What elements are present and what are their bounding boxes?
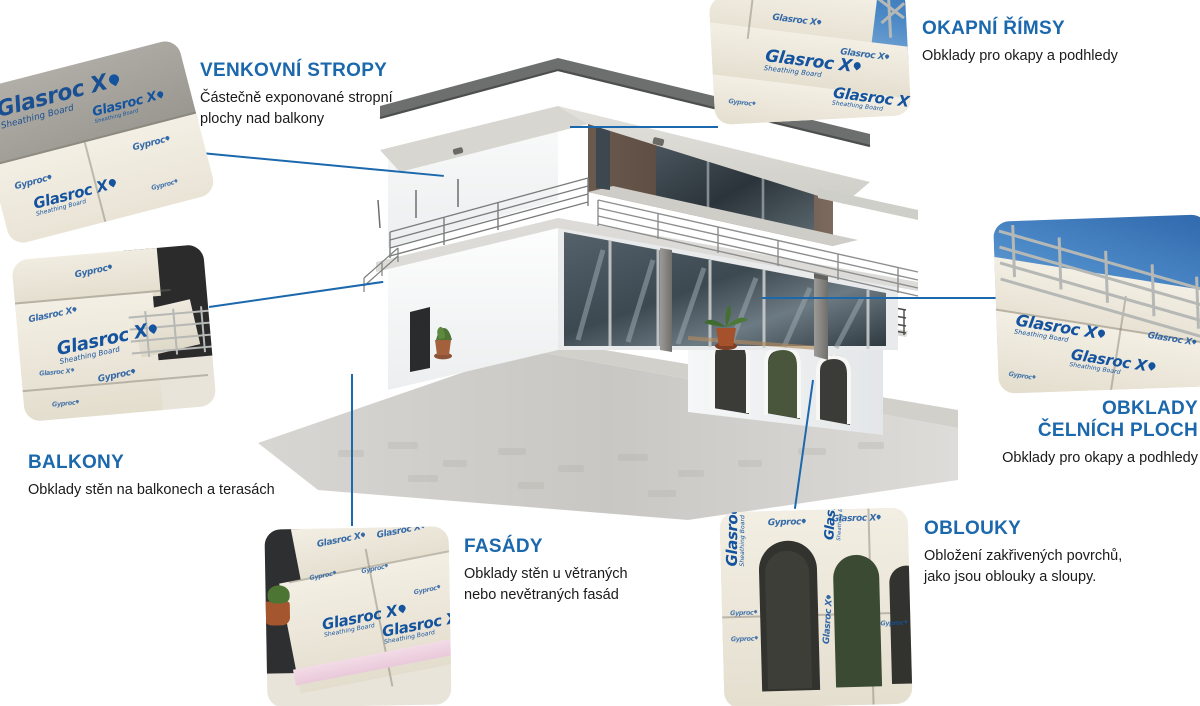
callout-description: Obložení zakřivených povrchů, jako jsou …: [924, 546, 1192, 588]
callout-description: Částečně exponované stropní plochy nad b…: [200, 88, 450, 130]
callout-description: Obklady pro okapy a podhledy: [922, 46, 1192, 67]
callout-description: Obklady stěn na balkonech a terasách: [28, 480, 328, 501]
balcony-boards-panel: Glasroc X Sheathing Board Glasroc X Gypr…: [11, 244, 216, 422]
leader-fasady: [351, 374, 353, 526]
callout-title: VENKOVNÍ STROPY: [200, 60, 450, 82]
callout-balkony: BALKONY Obklady stěn na balkonech a tera…: [28, 452, 328, 501]
board-logo-tiny: Gyproc: [880, 620, 907, 627]
callout-oblouky: OBLOUKY Obložení zakřivených povrchů, ja…: [924, 518, 1192, 588]
leader-okapni-rimsy: [570, 126, 718, 128]
board-logo-small: Gyproc: [768, 518, 806, 528]
callout-okapni-rimsy: OKAPNÍ ŘÍMSY Obklady pro okapy a podhled…: [922, 18, 1192, 67]
fascia-boards-panel: Glasroc X Sheathing Board Glasroc X Shea…: [993, 214, 1200, 393]
callout-title: OBLOUKY: [924, 518, 1192, 540]
arches-boards-panel: Glasroc X Sheathing Board Glasroc X Shea…: [719, 508, 912, 706]
board-logo-tiny: Gyproc: [730, 610, 757, 617]
callout-fasady: FASÁDY Obklady stěn u větraných nebo nev…: [464, 536, 704, 606]
callout-title: OKAPNÍ ŘÍMSY: [922, 18, 1192, 40]
facade-boards-panel: Glasroc X Sheathing Board Glasroc X Shea…: [264, 526, 451, 706]
board-logo-tiny: Gyproc: [52, 399, 79, 407]
callout-venkovni-stropy: VENKOVNÍ STROPY Částečně exponované stro…: [200, 60, 450, 130]
leader-obklady-celnich-ploch: [762, 297, 996, 299]
callout-title: BALKONY: [28, 452, 328, 474]
callout-title: OBKLADY ČELNÍCH PLOCH: [930, 398, 1198, 442]
diagram-canvas: Glasroc X Sheathing Board Glasroc X Shea…: [0, 0, 1200, 706]
callout-description: Obklady stěn u větraných nebo nevětranýc…: [464, 564, 704, 606]
board-logo-tiny: Gyproc: [731, 636, 758, 643]
callout-description: Obklady pro okapy a podhledy: [930, 448, 1198, 469]
eaves-boards-panel: Glasroc X Sheathing Board Glasroc X Glas…: [709, 0, 911, 125]
board-logo: Glasroc X Sheathing Board: [725, 508, 747, 567]
callout-title: FASÁDY: [464, 536, 704, 558]
callout-obklady-celnich-ploch: OBKLADY ČELNÍCH PLOCH Obklady pro okapy …: [930, 398, 1198, 469]
soffit-boards-panel: Glasroc X Sheathing Board Glasroc X Shea…: [0, 38, 217, 246]
board-logo-small: Glasroc X: [832, 514, 881, 524]
